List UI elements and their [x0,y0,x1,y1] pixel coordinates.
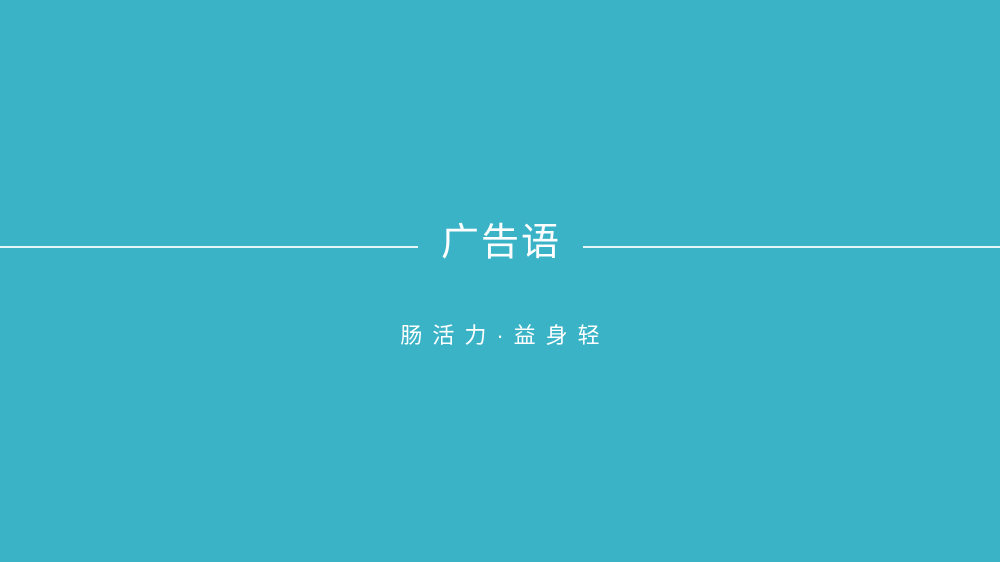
title-container: 广告语 [0,216,1000,270]
slide-title: 广告语 [439,216,561,270]
slide-canvas: 广告语 肠活力·益身轻 [0,0,1000,562]
slide-tagline: 肠活力·益身轻 [390,318,609,354]
subtitle-container: 肠活力·益身轻 [0,318,1000,354]
